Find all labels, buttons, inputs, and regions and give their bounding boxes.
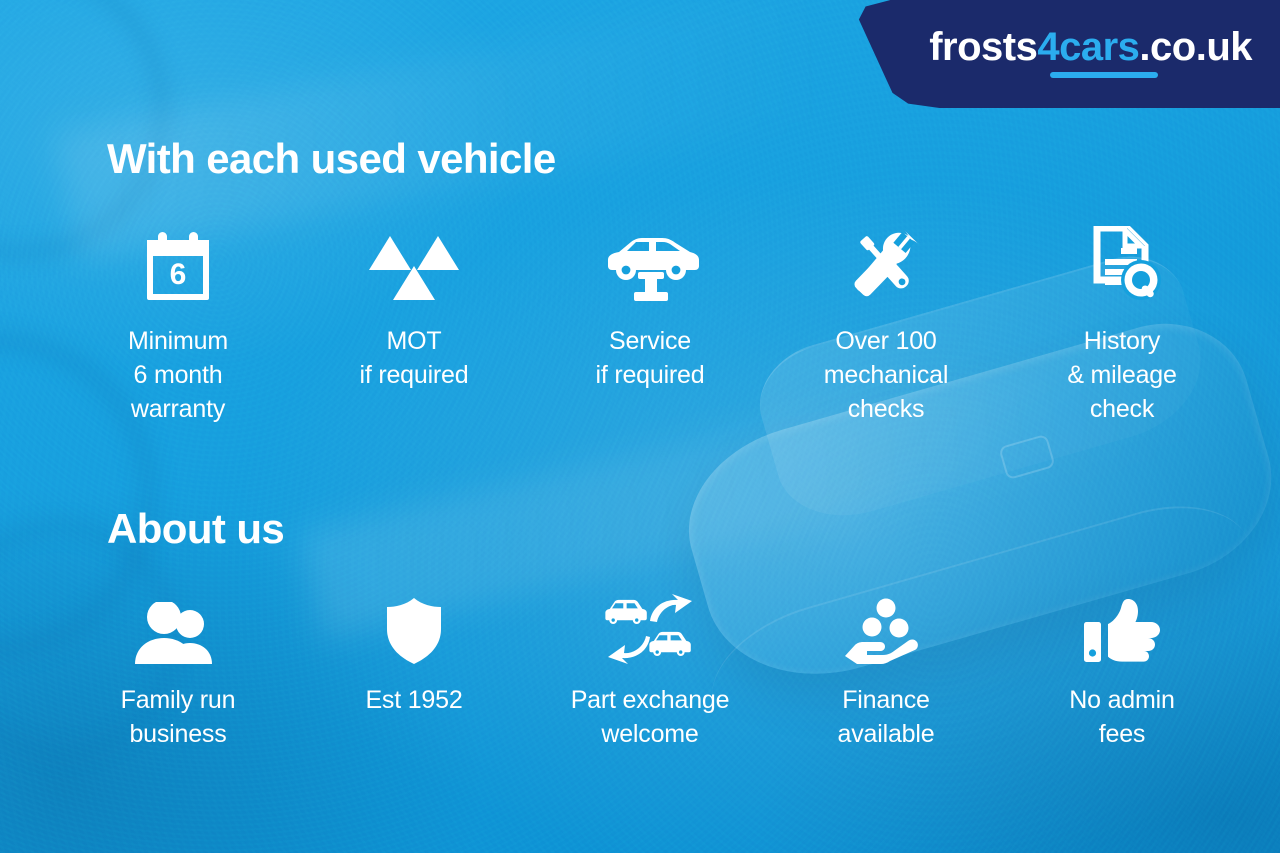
- feature-label: No admin fees: [1069, 683, 1174, 751]
- feature-no-admin-fees[interactable]: No admin fees: [1004, 596, 1240, 751]
- feature-row-vehicle: 6 Minimum 6 month warranty MOT if requir…: [60, 228, 1240, 426]
- feature-label: Over 100 mechanical checks: [824, 324, 948, 426]
- promo-banner: frosts4cars.co.uk With each used vehicle…: [0, 0, 1280, 853]
- feature-label: Minimum 6 month warranty: [128, 324, 228, 426]
- hand-coins-icon: [843, 596, 929, 664]
- feature-mechanical-checks[interactable]: Over 100 mechanical checks: [768, 228, 1004, 426]
- shield-icon: [386, 596, 442, 664]
- feature-family-run[interactable]: Family run business: [60, 596, 296, 751]
- feature-established[interactable]: Est 1952: [296, 596, 532, 751]
- feature-label: Est 1952: [365, 683, 462, 717]
- feature-warranty[interactable]: 6 Minimum 6 month warranty: [60, 228, 296, 426]
- wrench-screwdriver-icon: [843, 228, 929, 302]
- feature-label: Service if required: [596, 324, 705, 392]
- section-title-vehicle: With each used vehicle: [107, 135, 556, 183]
- feature-label: History & mileage check: [1067, 324, 1176, 426]
- feature-part-exchange[interactable]: Part exchange welcome: [532, 596, 768, 751]
- feature-service[interactable]: Service if required: [532, 228, 768, 426]
- feature-label: MOT if required: [360, 324, 469, 392]
- mot-triangles-icon: [366, 228, 462, 302]
- feature-mot[interactable]: MOT if required: [296, 228, 532, 426]
- section-title-about: About us: [107, 505, 284, 553]
- feature-finance[interactable]: Finance available: [768, 596, 1004, 751]
- feature-label: Part exchange welcome: [571, 683, 730, 751]
- calendar-6-icon: 6: [145, 228, 211, 302]
- feature-history-check[interactable]: History & mileage check: [1004, 228, 1240, 426]
- document-magnifier-icon: [1079, 228, 1165, 302]
- two-people-icon: [132, 596, 224, 664]
- feature-label: Family run business: [121, 683, 236, 751]
- thumbs-up-icon: [1082, 596, 1162, 664]
- feature-row-about: Family run business Est 1952: [60, 596, 1240, 751]
- feature-label: Finance available: [838, 683, 935, 751]
- svg-text:6: 6: [170, 258, 187, 291]
- car-on-lift-icon: [598, 228, 702, 302]
- part-exchange-cars-icon: [600, 596, 700, 664]
